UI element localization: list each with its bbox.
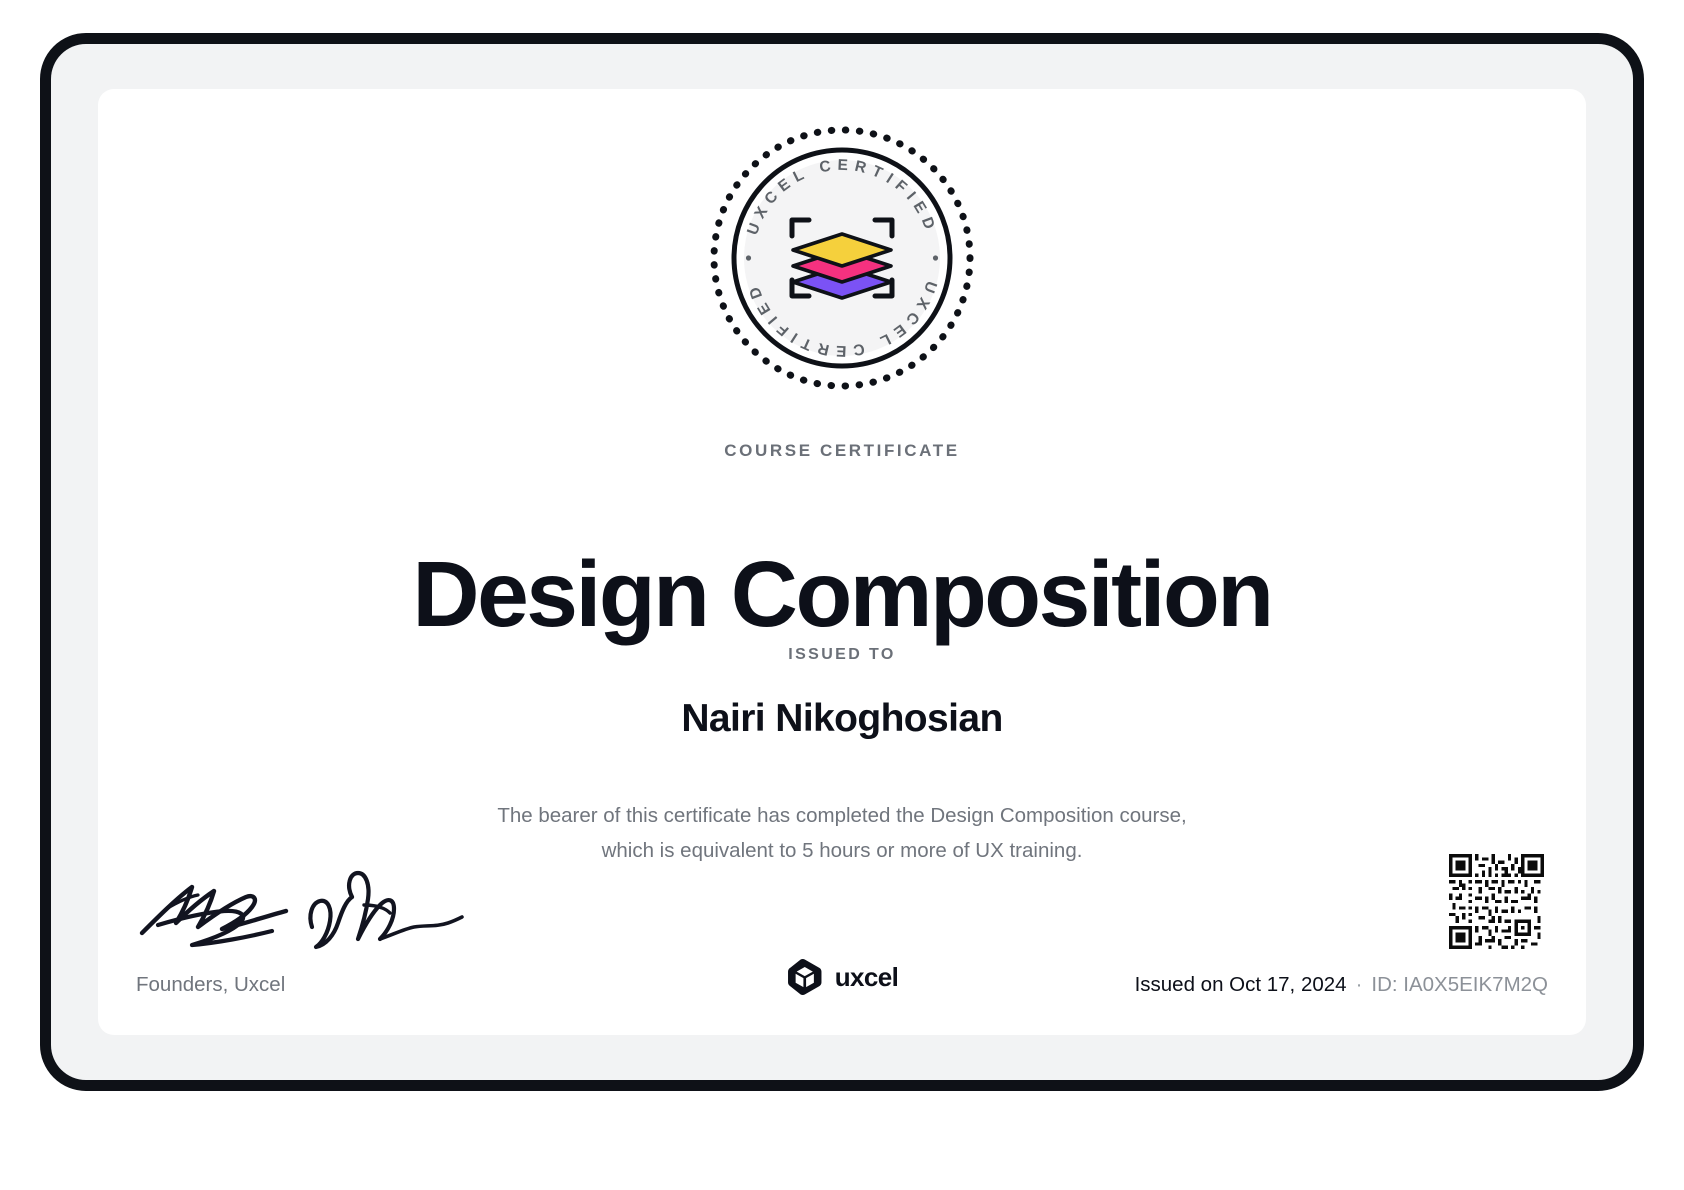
uxcel-certified-seal: UXCEL CERTIFIED UXCEL CERTIFIED [708, 124, 976, 392]
description-line-2: which is equivalent to 5 hours or more o… [602, 839, 1083, 862]
issue-metadata: Issued on Oct 17, 2024·ID: IA0X5EIK7M2Q [1135, 973, 1548, 997]
certificate-description: The bearer of this certificate has compl… [392, 798, 1292, 870]
seal-icon: UXCEL CERTIFIED UXCEL CERTIFIED [708, 124, 976, 392]
uxcel-brand-logo: uxcel [786, 958, 899, 996]
uxcel-wordmark: uxcel [835, 962, 899, 993]
recipient-name: Nairi Nikoghosian [98, 697, 1586, 741]
description-line-1: The bearer of this certificate has compl… [497, 804, 1186, 827]
kicker-course-certificate: COURSE CERTIFICATE [98, 441, 1586, 461]
certificate-id: ID: IA0X5EIK7M2Q [1371, 973, 1548, 996]
certificate-title: Design Composition [98, 546, 1586, 644]
certificate-frame: UXCEL CERTIFIED UXCEL CERTIFIED [40, 33, 1644, 1091]
founder-signatures [136, 861, 466, 953]
uxcel-hexagon-icon [786, 958, 824, 996]
signature-icon [136, 861, 466, 953]
signature-caption: Founders, Uxcel [136, 973, 285, 997]
metadata-separator: · [1347, 973, 1372, 996]
certificate-paper: UXCEL CERTIFIED UXCEL CERTIFIED [98, 89, 1586, 1035]
verification-qr-code[interactable] [1449, 854, 1544, 949]
issued-on-date: Issued on Oct 17, 2024 [1135, 973, 1347, 996]
issued-to-label: ISSUED TO [98, 646, 1586, 664]
certificate-page: UXCEL CERTIFIED UXCEL CERTIFIED [0, 0, 1684, 1190]
qr-code-icon [1449, 854, 1544, 949]
